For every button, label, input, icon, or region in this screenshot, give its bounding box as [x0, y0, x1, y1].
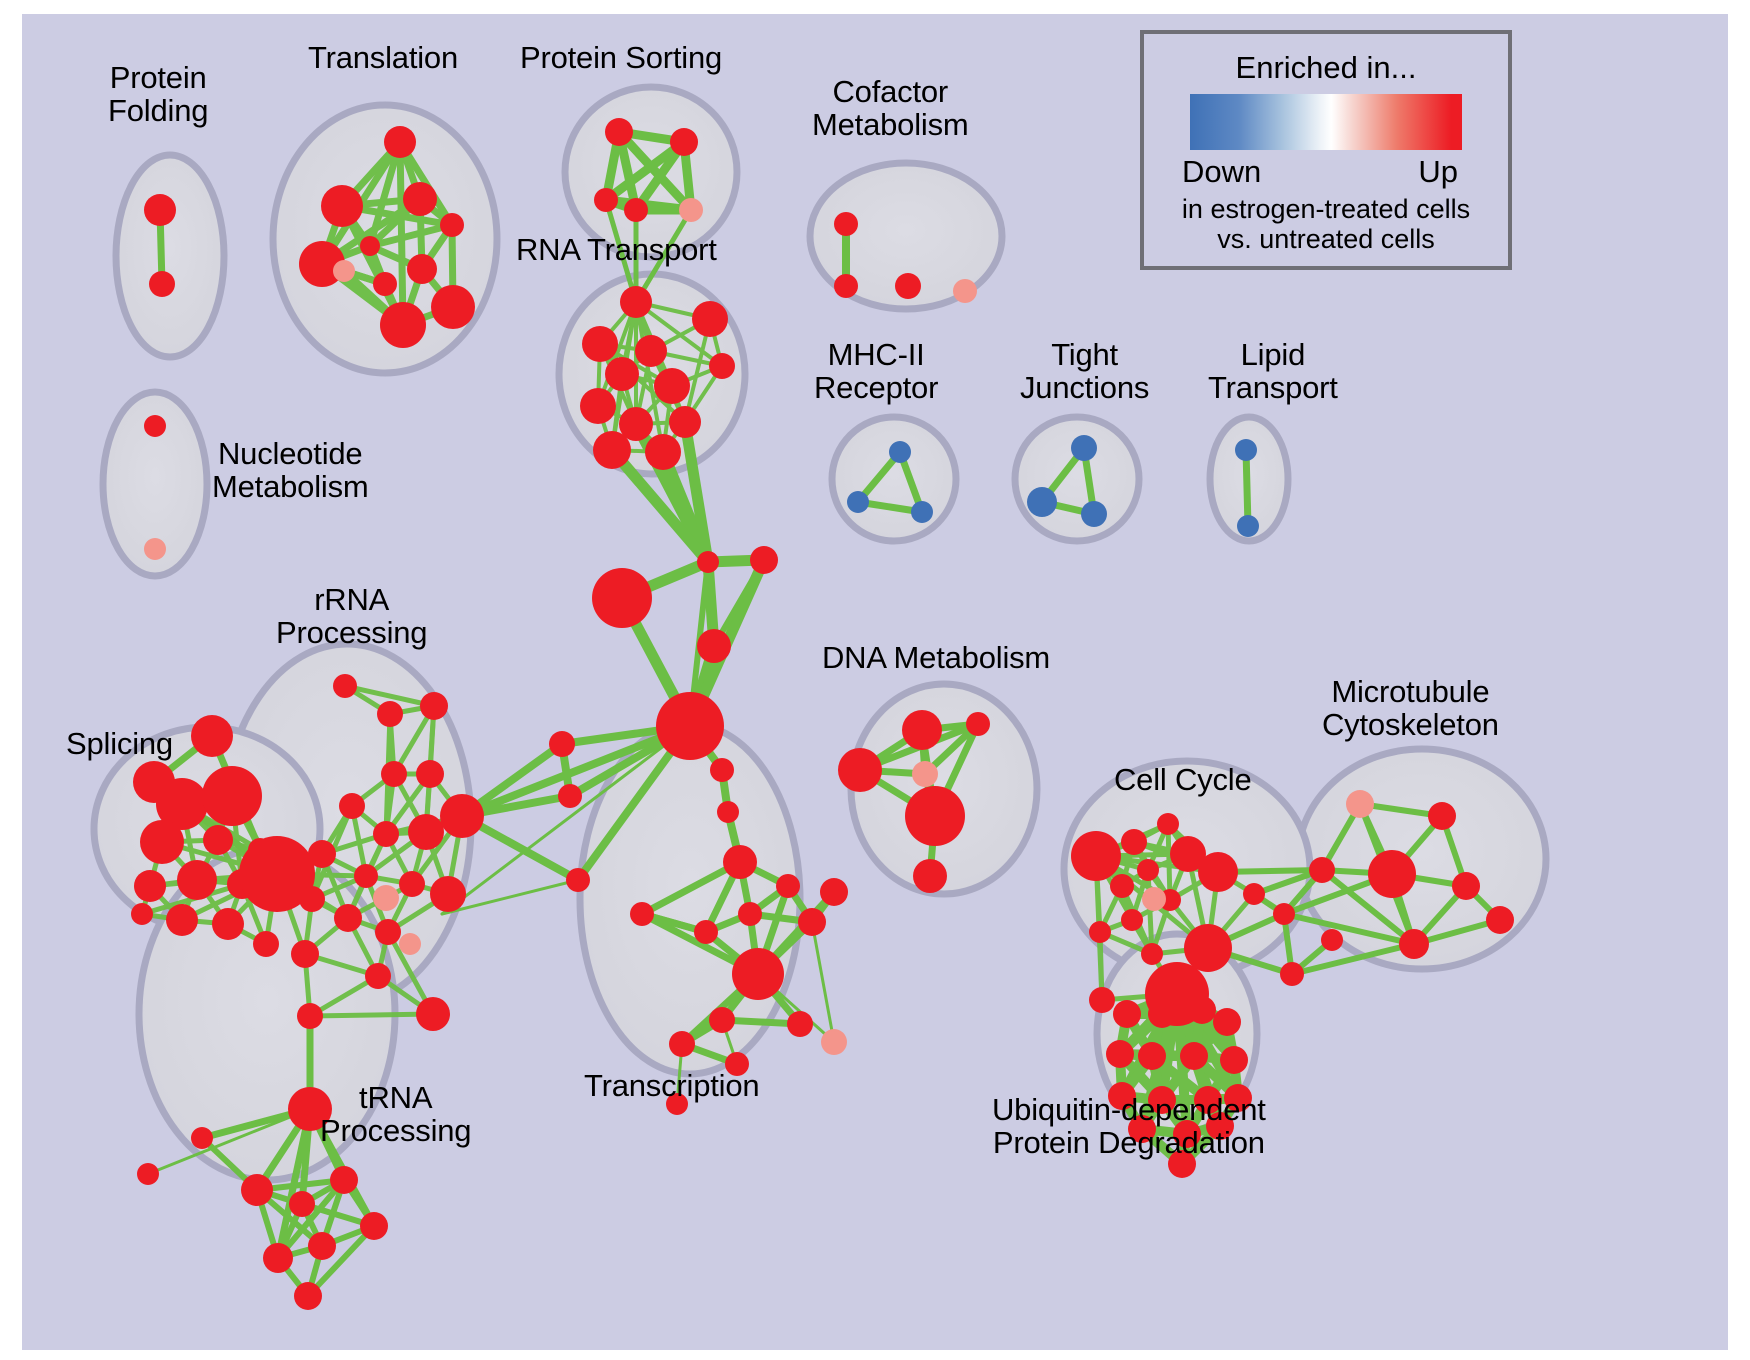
- cluster-label-transcription: Transcription: [584, 1070, 759, 1103]
- node: [549, 731, 575, 757]
- node: [1071, 435, 1097, 461]
- cluster-label-rrna-processing: rRNA Processing: [276, 584, 427, 650]
- node: [654, 368, 690, 404]
- node: [360, 236, 380, 256]
- node: [902, 710, 942, 750]
- node: [375, 919, 401, 945]
- node: [1309, 857, 1335, 883]
- node: [656, 692, 724, 760]
- node: [566, 868, 590, 892]
- node: [440, 213, 464, 237]
- node: [710, 758, 734, 782]
- node: [373, 885, 399, 911]
- network-canvas: Protein Folding Translation Protein Sort…: [22, 14, 1728, 1350]
- legend-endpoints: Down Up: [1176, 154, 1476, 190]
- node: [1452, 872, 1480, 900]
- node: [399, 871, 425, 897]
- hull-tight-junctions: [1015, 417, 1139, 541]
- node: [1081, 501, 1107, 527]
- node: [694, 920, 718, 944]
- node: [895, 273, 921, 299]
- legend-up-label: Up: [1418, 154, 1458, 190]
- node: [838, 748, 882, 792]
- node: [1486, 906, 1514, 934]
- node: [360, 1212, 388, 1240]
- node: [403, 182, 437, 216]
- node: [144, 415, 166, 437]
- node: [1428, 802, 1456, 830]
- cluster-label-nucleotide: Nucleotide Metabolism: [212, 438, 369, 504]
- node: [1273, 903, 1295, 925]
- node: [1237, 515, 1259, 537]
- node: [776, 874, 800, 898]
- node: [913, 859, 947, 893]
- node: [847, 491, 869, 513]
- node: [1089, 921, 1111, 943]
- node: [354, 864, 378, 888]
- node: [294, 1282, 322, 1310]
- cluster-label-protein-folding: Protein Folding: [108, 62, 208, 128]
- node: [692, 301, 728, 337]
- node: [333, 260, 355, 282]
- node: [308, 1232, 336, 1260]
- node: [820, 878, 848, 906]
- node: [144, 194, 176, 226]
- node: [203, 825, 233, 855]
- node: [669, 1031, 695, 1057]
- node: [134, 870, 166, 902]
- node: [966, 712, 990, 736]
- cluster-label-rna-transport: RNA Transport: [516, 234, 717, 267]
- node: [149, 271, 175, 297]
- node: [593, 431, 631, 469]
- node: [953, 279, 977, 303]
- node: [381, 761, 407, 787]
- legend-subtitle-line1: in estrogen-treated cells: [1182, 194, 1470, 224]
- node: [299, 886, 325, 912]
- node: [592, 568, 652, 628]
- node: [399, 933, 421, 955]
- cluster-label-dna-metabolism: DNA Metabolism: [822, 642, 1050, 675]
- node: [1180, 1042, 1208, 1070]
- node: [1157, 813, 1179, 835]
- node: [333, 674, 357, 698]
- node: [697, 629, 731, 663]
- node: [605, 357, 639, 391]
- cluster-label-mhc-ii: MHC-II Receptor: [814, 339, 938, 405]
- node: [821, 1029, 847, 1055]
- node: [911, 501, 933, 523]
- node: [241, 1174, 273, 1206]
- node: [263, 1243, 293, 1273]
- node: [431, 285, 475, 329]
- cluster-label-translation: Translation: [308, 42, 458, 75]
- node: [605, 118, 633, 146]
- node: [297, 1003, 323, 1029]
- node: [308, 840, 336, 868]
- node: [732, 948, 784, 1000]
- node: [834, 274, 858, 298]
- node: [334, 904, 362, 932]
- node: [1213, 1008, 1241, 1036]
- cluster-label-lipid-transport: Lipid Transport: [1208, 339, 1338, 405]
- node: [1141, 943, 1163, 965]
- node: [1399, 929, 1429, 959]
- node: [339, 793, 365, 819]
- node: [630, 902, 654, 926]
- node: [373, 272, 397, 296]
- node: [709, 1007, 735, 1033]
- node: [380, 302, 426, 348]
- node: [140, 820, 184, 864]
- node: [177, 860, 217, 900]
- node: [416, 997, 450, 1031]
- node: [191, 1127, 213, 1149]
- node: [1110, 874, 1134, 898]
- node: [624, 198, 648, 222]
- legend-panel: Enriched in... Down Up in estrogen-treat…: [1140, 30, 1512, 270]
- node: [635, 335, 667, 367]
- node: [253, 931, 279, 957]
- node: [679, 198, 703, 222]
- node: [191, 715, 233, 757]
- hull-mhc: [832, 417, 956, 541]
- figure-root: Protein Folding Translation Protein Sort…: [0, 0, 1750, 1360]
- node: [212, 908, 244, 940]
- node: [1113, 1000, 1141, 1028]
- node: [416, 760, 444, 788]
- node: [670, 128, 698, 156]
- node: [420, 692, 448, 720]
- node: [1188, 996, 1216, 1024]
- node: [373, 821, 399, 847]
- node: [582, 326, 618, 362]
- node: [202, 766, 262, 826]
- cluster-label-microtubule: Microtubule Cytoskeleton: [1322, 676, 1499, 742]
- node: [645, 434, 681, 470]
- node: [408, 814, 444, 850]
- node: [834, 212, 858, 236]
- node: [1198, 852, 1238, 892]
- node: [669, 406, 701, 438]
- node: [1138, 1042, 1166, 1070]
- node: [144, 538, 166, 560]
- node: [377, 701, 403, 727]
- node: [1220, 1046, 1248, 1074]
- node: [289, 1191, 315, 1217]
- node: [407, 254, 437, 284]
- node: [321, 185, 363, 227]
- node: [905, 786, 965, 846]
- node: [620, 286, 652, 318]
- node: [137, 1163, 159, 1185]
- node: [738, 902, 762, 926]
- node: [166, 904, 198, 936]
- node: [1071, 831, 1121, 881]
- node: [912, 761, 938, 787]
- legend-subtitle: in estrogen-treated cells vs. untreated …: [1182, 194, 1470, 254]
- node: [1148, 1000, 1176, 1028]
- node: [709, 353, 735, 379]
- node: [1137, 859, 1159, 881]
- node: [1142, 887, 1166, 911]
- node: [1280, 962, 1304, 986]
- node: [1106, 1040, 1134, 1068]
- node: [1346, 790, 1374, 818]
- node: [787, 1011, 813, 1037]
- node: [1243, 883, 1265, 905]
- node: [1184, 924, 1232, 972]
- cluster-label-tight-junctions: Tight Junctions: [1020, 339, 1149, 405]
- cluster-label-splicing: Splicing: [66, 728, 173, 761]
- node: [131, 903, 153, 925]
- legend-subtitle-line2: vs. untreated cells: [1182, 224, 1470, 254]
- node: [1235, 439, 1257, 461]
- cluster-label-protein-sorting: Protein Sorting: [520, 42, 722, 75]
- node: [1121, 909, 1143, 931]
- node: [697, 551, 719, 573]
- node: [717, 801, 739, 823]
- node: [558, 784, 582, 808]
- node: [1321, 929, 1343, 951]
- node: [440, 794, 484, 838]
- cluster-label-ubiquitin: Ubiquitin-dependent Protein Degradation: [992, 1094, 1266, 1160]
- node: [750, 546, 778, 574]
- node: [1027, 487, 1057, 517]
- legend-title: Enriched in...: [1236, 50, 1417, 86]
- cluster-label-trna-processing: tRNA Processing: [320, 1082, 471, 1148]
- node: [384, 126, 416, 158]
- node: [330, 1166, 358, 1194]
- node: [798, 908, 826, 936]
- node: [1368, 850, 1416, 898]
- node: [430, 876, 466, 912]
- node: [889, 441, 911, 463]
- legend-down-label: Down: [1182, 154, 1261, 190]
- node: [1089, 987, 1115, 1013]
- color-scale-bar: [1190, 94, 1462, 150]
- node: [291, 940, 319, 968]
- node: [723, 845, 757, 879]
- hull-protein-folding: [116, 155, 224, 357]
- node: [365, 963, 391, 989]
- node: [594, 188, 618, 212]
- cluster-label-cell-cycle: Cell Cycle: [1114, 764, 1252, 797]
- cluster-label-cofactor: Cofactor Metabolism: [812, 76, 969, 142]
- node: [580, 388, 616, 424]
- node: [1121, 829, 1147, 855]
